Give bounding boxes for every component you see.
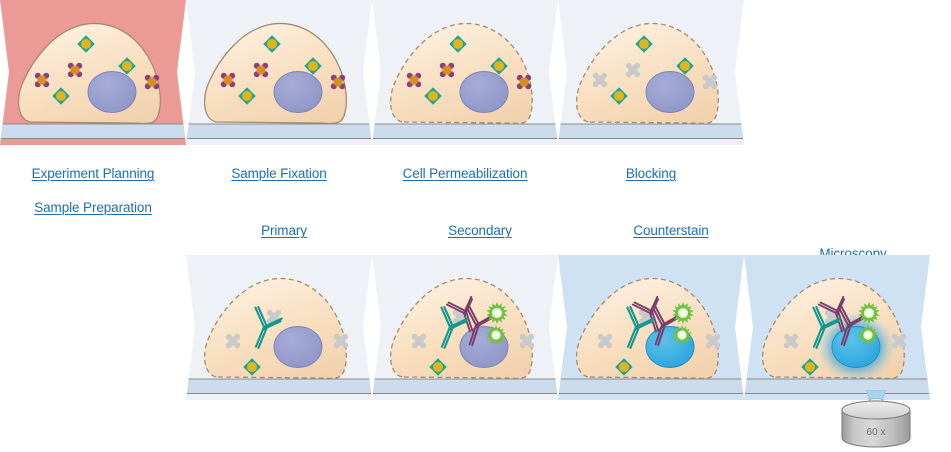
step-label-line: Primary (261, 222, 307, 239)
panel-artwork (558, 255, 744, 400)
step-label-line: Experiment Planning (32, 165, 155, 182)
objective-lens-icon (824, 390, 928, 452)
step-label-line: Sample Fixation (231, 165, 326, 182)
objective-magnification-label: 60 x (824, 427, 928, 438)
panel-artwork (0, 0, 186, 145)
step-label-line: Secondary (448, 222, 512, 239)
microscope-slide (372, 124, 558, 139)
panel-cell-permeabilization (372, 0, 558, 145)
step-label-experiment-planning: Experiment Planning Sample Preparation (0, 148, 186, 216)
workflow-diagram: Experiment Planning Sample Preparation S… (0, 0, 951, 452)
microscope-slide (558, 379, 744, 394)
cell-nucleus (274, 72, 322, 113)
step-label-cell-permeabilization: Cell Permeabilization (372, 148, 558, 182)
panel-sample-fixation (186, 0, 372, 145)
cell-nucleus (460, 72, 508, 113)
step-label-blocking: Blocking (558, 148, 744, 182)
microscope-slide (186, 379, 372, 394)
microscope-slide (0, 124, 186, 139)
panel-secondary-antibody-incubation (372, 255, 558, 400)
step-label-line: Cell Permeabilization (403, 165, 528, 182)
step-label-line: Sample Preparation (34, 199, 152, 216)
panel-artwork (372, 0, 558, 145)
panel-artwork (744, 255, 930, 400)
panel-primary-antibody-incubation (186, 255, 372, 400)
panel-microscopy (744, 255, 930, 400)
microscope-slide (558, 124, 744, 139)
step-label-line: Counterstain (633, 222, 708, 239)
panel-artwork (372, 255, 558, 400)
cell-nucleus (274, 327, 322, 368)
objective-lens: 60 x (824, 390, 928, 452)
panel-blocking (558, 0, 744, 145)
cell-nucleus (88, 72, 136, 113)
step-label-sample-fixation: Sample Fixation (186, 148, 372, 182)
panel-artwork (558, 0, 744, 145)
panel-artwork (186, 255, 372, 400)
panel-experiment-planning (0, 0, 186, 145)
panel-counterstain-and-mounting (558, 255, 744, 400)
panel-artwork (186, 0, 372, 145)
microscope-slide (186, 124, 372, 139)
cell-nucleus (646, 72, 694, 113)
step-label-line: Blocking (626, 165, 676, 182)
microscope-slide (372, 379, 558, 394)
